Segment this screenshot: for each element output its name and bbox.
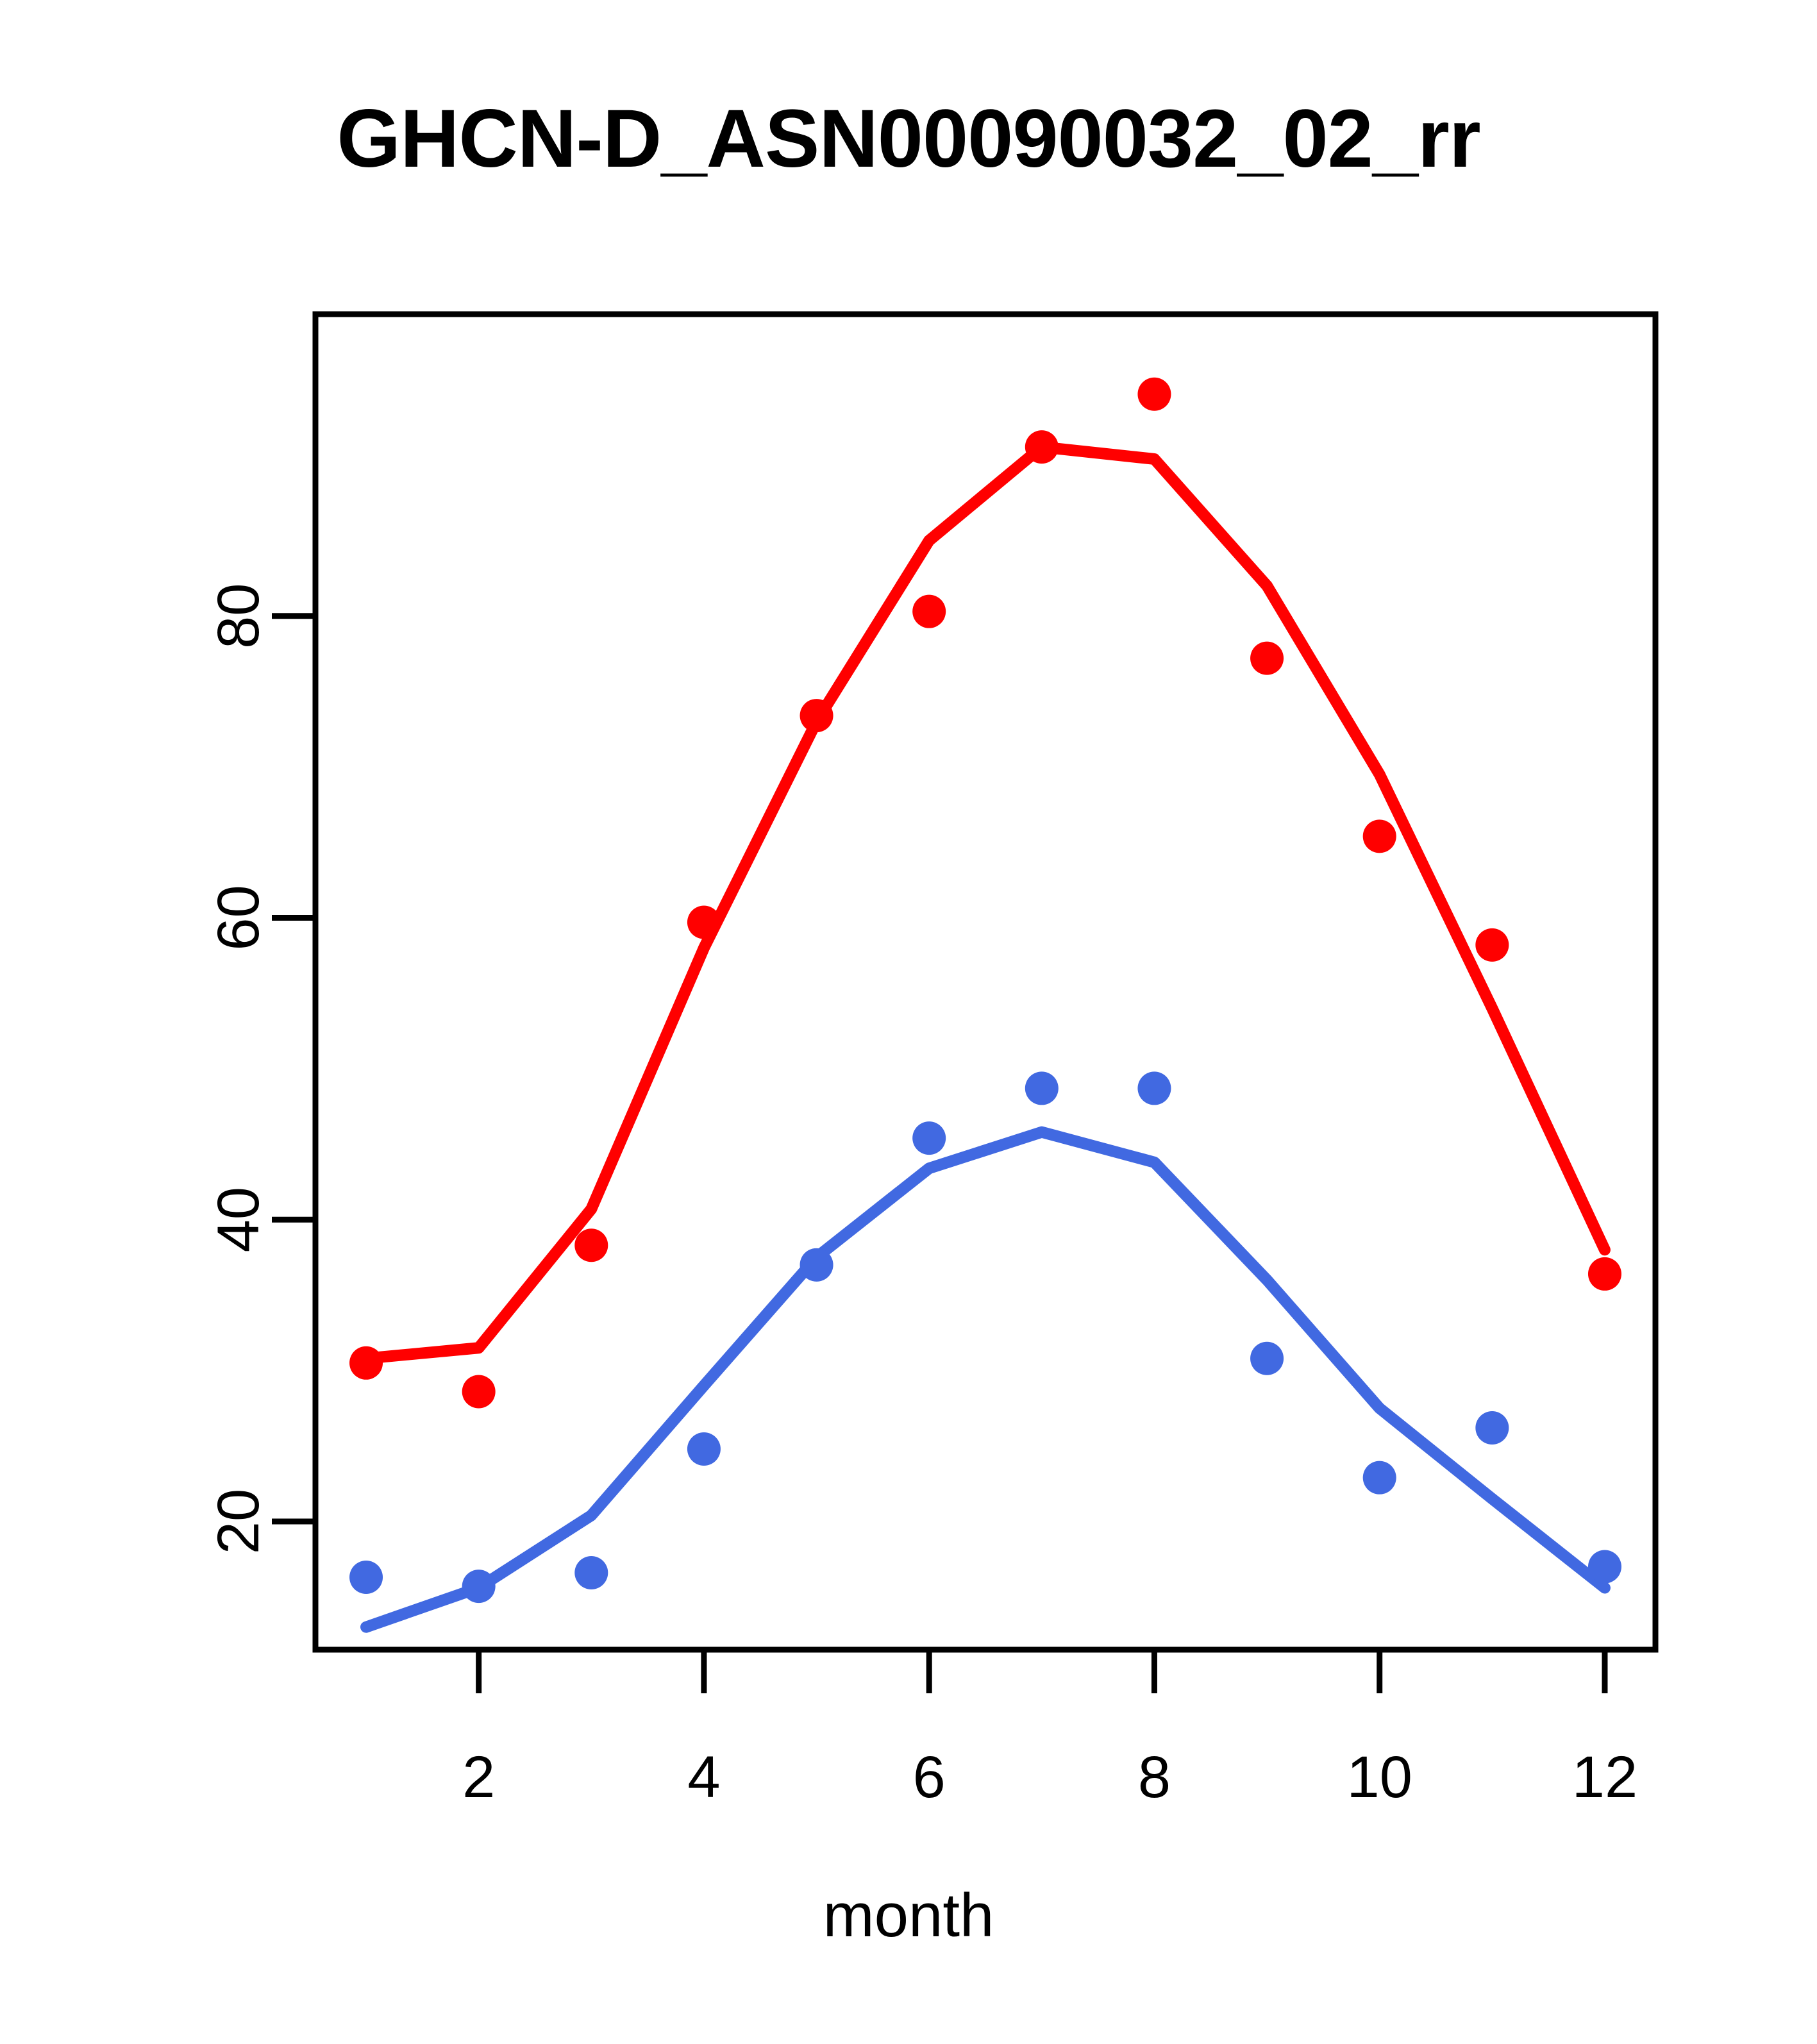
y-tick-label: 60: [206, 885, 271, 950]
data-point: [1025, 430, 1059, 464]
data-point: [1475, 928, 1509, 962]
plot-area: 24681012 20406080: [0, 0, 1817, 2044]
y-tick-label: 20: [206, 1489, 271, 1554]
data-point: [462, 1570, 496, 1603]
series-line-upper: [366, 447, 1605, 1359]
series-line-lower: [366, 1132, 1605, 1627]
x-tick-label: 6: [913, 1745, 946, 1810]
data-point: [912, 1121, 946, 1155]
data-point: [1363, 1461, 1396, 1495]
y-axis-tick-labels: 20406080: [206, 583, 271, 1555]
data-point: [574, 1556, 608, 1589]
data-point: [800, 1248, 833, 1282]
data-point: [1250, 1342, 1284, 1375]
x-tick-label: 8: [1138, 1745, 1171, 1810]
data-point: [687, 906, 721, 939]
chart-canvas: GHCN-D_ASN00090032_02_rr 24681012 204060…: [0, 0, 1817, 2044]
data-point: [1475, 1411, 1509, 1445]
data-point: [800, 699, 833, 732]
x-tick-label: 2: [462, 1745, 495, 1810]
series-lines: [366, 447, 1605, 1627]
y-axis-ticks: [272, 616, 315, 1521]
data-point: [462, 1375, 496, 1409]
data-point: [912, 595, 946, 628]
plot-border: [315, 314, 1655, 1650]
y-tick-label: 40: [206, 1187, 271, 1252]
x-axis-label: month: [0, 1879, 1817, 1952]
y-tick-label: 80: [206, 583, 271, 649]
data-point: [1588, 1257, 1621, 1291]
data-point: [1137, 378, 1171, 411]
data-point: [1025, 1071, 1059, 1105]
axes-box: [315, 314, 1655, 1650]
x-tick-label: 10: [1347, 1745, 1412, 1810]
data-point: [1588, 1550, 1621, 1584]
x-axis-ticks: [479, 1650, 1605, 1693]
x-axis-tick-labels: 24681012: [462, 1745, 1637, 1810]
data-point: [349, 1346, 383, 1380]
x-tick-label: 4: [687, 1745, 720, 1810]
data-point: [1363, 819, 1396, 853]
data-point: [687, 1432, 721, 1466]
data-point: [1250, 642, 1284, 675]
x-tick-label: 12: [1572, 1745, 1637, 1810]
series-points: [349, 378, 1621, 1603]
data-point: [349, 1561, 383, 1594]
data-point: [1137, 1071, 1171, 1105]
data-point: [574, 1228, 608, 1262]
